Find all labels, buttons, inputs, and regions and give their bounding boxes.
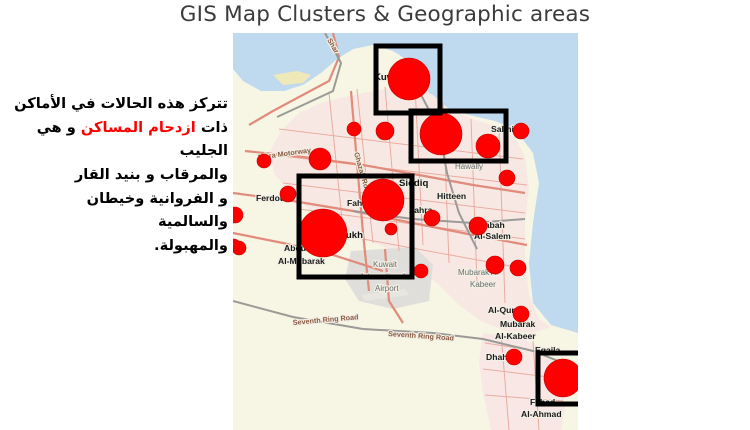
label-kabeer: Kabeer [470, 280, 496, 289]
cluster-dot-kuwait-city[interactable] [388, 58, 430, 100]
label-al-kabeer: Al-Kabeer [495, 331, 536, 341]
gis-map[interactable]: Kuwait Salmiya Hawally Siddiq Hitteen Za… [233, 33, 578, 430]
cluster-dot-hitteen[interactable] [424, 210, 440, 226]
caption-line-4: و الفروانية وخيطان والسالمية [14, 187, 228, 234]
cluster-dot-sabah-alsalem[interactable] [469, 217, 487, 235]
label-hitteen: Hitteen [437, 191, 466, 201]
cluster-dot-sharq[interactable] [376, 122, 394, 140]
cluster-dot-siddiq[interactable] [362, 179, 404, 221]
cluster-dot-airport-dot[interactable] [414, 264, 428, 278]
cluster-dot-khaitan-north[interactable] [257, 154, 271, 168]
cluster-dot-farwaniya[interactable] [309, 148, 331, 170]
cluster-dot-bneid-algar[interactable] [347, 122, 361, 136]
cluster-dot-rumaithiya[interactable] [499, 170, 515, 186]
cluster-dot-salmiya-main[interactable] [420, 113, 462, 155]
arabic-caption: تتركز هذه الحالات في الأماكن ذات ازدحام … [14, 92, 228, 257]
page-title: GIS Map Clusters & Geographic areas [150, 2, 620, 32]
caption-line-5: والمهبولة. [14, 234, 228, 258]
caption-line-3: والمرقاب و بنيد القار [14, 163, 228, 187]
cluster-dot-qurain-south[interactable] [513, 306, 529, 322]
cluster-dot-fahad-small[interactable] [385, 223, 397, 235]
cluster-dot-ras-salmiya[interactable] [513, 123, 529, 139]
cluster-dot-jleeb[interactable] [280, 186, 296, 202]
label-al-mubarak: Al-Mubarak [278, 256, 325, 266]
caption-highlight: ازدحام المساكن [81, 119, 196, 136]
caption-line-2-prefix: ذات [196, 119, 228, 136]
caption-line-1: تتركز هذه الحالات في الأماكن [14, 92, 228, 116]
cluster-dot-fahad-al-ahmad[interactable] [544, 359, 578, 397]
cluster-dot-adan[interactable] [486, 256, 504, 274]
cluster-dot-shoukh[interactable] [299, 209, 347, 257]
cluster-dot-dhaher[interactable] [506, 349, 522, 365]
label-kuwait-airport-3: Airport [375, 284, 399, 293]
cluster-dot-qurain[interactable] [510, 260, 526, 276]
caption-line-2: ذات ازدحام المساكن و هي الجليب [14, 116, 228, 163]
label-kuwait-airport-1: Kuwait [373, 260, 398, 269]
label-al-ahmad: Al-Ahmad [521, 409, 562, 419]
cluster-dot-salmiya-east[interactable] [476, 134, 500, 158]
slide-canvas: GIS Map Clusters & Geographic areas تترك… [0, 0, 750, 430]
